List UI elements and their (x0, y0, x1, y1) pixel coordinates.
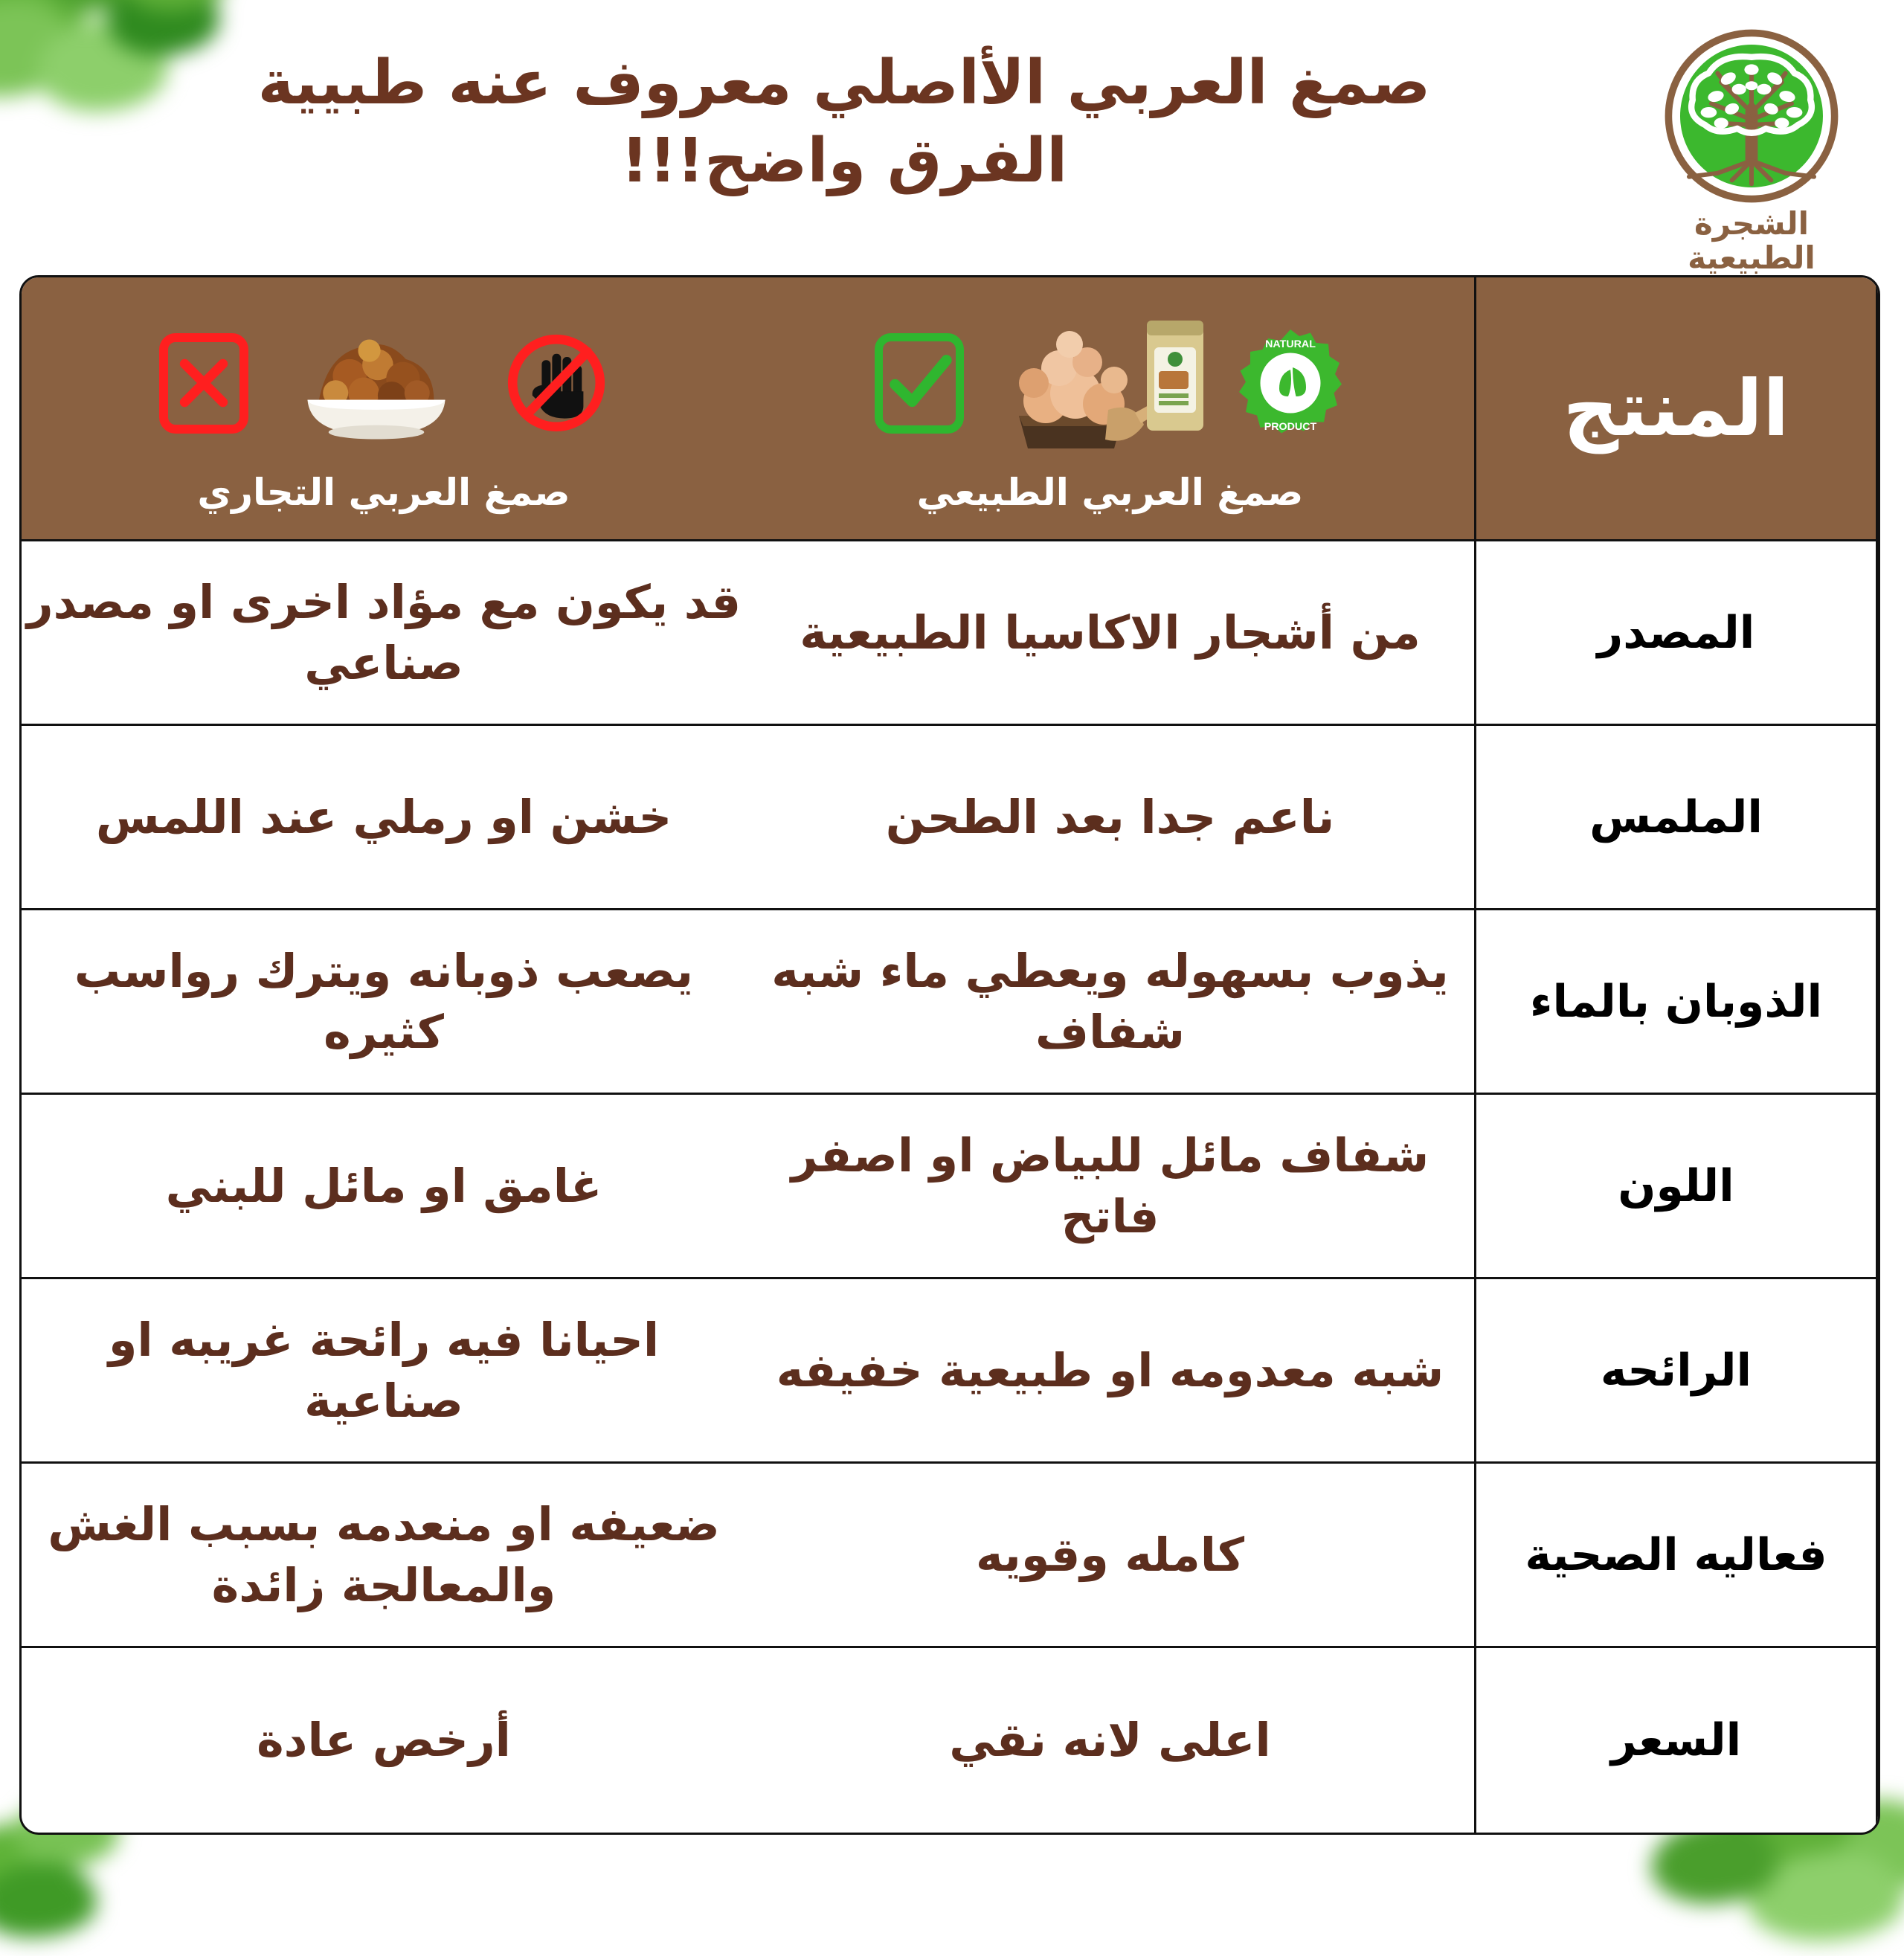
natural-product-image (980, 309, 1218, 457)
title-line-2: الفرق واضح!!! (59, 123, 1629, 201)
header-natural-column: NATURAL PRODUCT صمغ العربي الطبيعي (746, 277, 1476, 541)
cross-mark-icon (170, 349, 238, 417)
table-row: السعر اعلى لانه نقي أرخص عادة (22, 1648, 1878, 1833)
row-natural-source: من أشجار الاكاسيا الطبيعية (746, 541, 1476, 726)
header-natural-caption: صمغ العربي الطبيعي (746, 471, 1474, 514)
row-natural-health-efficacy: كامله وقويه (746, 1464, 1476, 1648)
header-product-label: المنتج (1476, 277, 1878, 541)
badge-text-bottom: PRODUCT (1264, 421, 1316, 433)
row-commercial-color: غامق او مائل للبني (22, 1095, 746, 1279)
row-commercial-smell: احيانا فيه رائحة غريبه او صناعية (22, 1279, 746, 1464)
gum-bowl-image (265, 320, 488, 446)
header-commercial-caption: صمغ العربي التجاري (22, 471, 746, 514)
row-commercial-price: أرخص عادة (22, 1648, 746, 1833)
table-row: اللون شفاف مائل للبياض او اصفر فاتح غامق… (22, 1095, 1878, 1279)
header-natural-icons: NATURAL PRODUCT (746, 303, 1474, 463)
header-commercial-column: صمغ العربي التجاري (22, 277, 746, 541)
page-header: الشجرة الطبيعية AL SHAJARAH AL TABEIYA ص… (0, 0, 1904, 275)
row-commercial-texture: خشن او رملي عند اللمس (22, 726, 746, 910)
check-mark-icon (884, 347, 955, 419)
row-commercial-solubility: يصعب ذوبانه ويترك رواسب كثيره (22, 910, 746, 1095)
page-title: صمغ العربي الأاصلي معروف عنه طبيية الفرق… (30, 19, 1629, 201)
brand-name-arabic: الشجرة الطبيعية (1629, 207, 1874, 275)
table-row: الذوبان بالماء يذوب بسهوله ويعطي ماء شبه… (22, 910, 1878, 1095)
row-commercial-health-efficacy: ضعيفه او منعدمه بسبب الغش والمعالجة زائد… (22, 1464, 746, 1648)
row-natural-smell: شبه معدومه او طبيعية خفيفه (746, 1279, 1476, 1464)
row-label-texture: الملمس (1476, 726, 1878, 910)
row-natural-solubility: يذوب بسهوله ويعطي ماء شبه شفاف (746, 910, 1476, 1095)
no-hand-prohibition-icon (504, 331, 608, 435)
green-check-box-icon (875, 333, 964, 434)
table-row: الملمس ناعم جدا بعد الطحن خشن او رملي عن… (22, 726, 1878, 910)
row-label-source: المصدر (1476, 541, 1878, 726)
natural-gum-arabic-pack-photo (980, 309, 1218, 457)
commercial-gum-arabic-bowl-photo (265, 320, 488, 446)
header-commercial-icons (22, 303, 746, 463)
tree-with-roots-icon (1662, 27, 1841, 205)
row-label-price: السعر (1476, 1648, 1878, 1833)
row-label-solubility: الذوبان بالماء (1476, 910, 1878, 1095)
table-header-row: المنتج (22, 277, 1878, 541)
row-label-color: اللون (1476, 1095, 1878, 1279)
table-row: الرائحه شبه معدومه او طبيعية خفيفه احيان… (22, 1279, 1878, 1464)
brand-logo: الشجرة الطبيعية AL SHAJARAH AL TABEIYA (1629, 19, 1874, 315)
row-natural-color: شفاف مائل للبياض او اصفر فاتح (746, 1095, 1476, 1279)
comparison-table: المنتج (19, 275, 1880, 1835)
table-row: المصدر من أشجار الاكاسيا الطبيعية قد يكو… (22, 541, 1878, 726)
row-label-smell: الرائحه (1476, 1279, 1878, 1464)
row-label-health-efficacy: فعاليه الصحية (1476, 1464, 1878, 1648)
red-cross-box-icon (159, 333, 248, 434)
natural-product-badge-icon: NATURAL PRODUCT (1235, 327, 1346, 439)
row-commercial-source: قد يكون مع مؤاد اخرى او مصدر صناعي (22, 541, 746, 726)
title-line-1: صمغ العربي الأاصلي معروف عنه طبيية (59, 45, 1629, 123)
comparison-table-wrapper: المنتج (24, 275, 1880, 1835)
table-row: فعاليه الصحية كامله وقويه ضعيفه او منعدم… (22, 1464, 1878, 1648)
row-natural-price: اعلى لانه نقي (746, 1648, 1476, 1833)
row-natural-texture: ناعم جدا بعد الطحن (746, 726, 1476, 910)
badge-text-top: NATURAL (1265, 338, 1316, 350)
